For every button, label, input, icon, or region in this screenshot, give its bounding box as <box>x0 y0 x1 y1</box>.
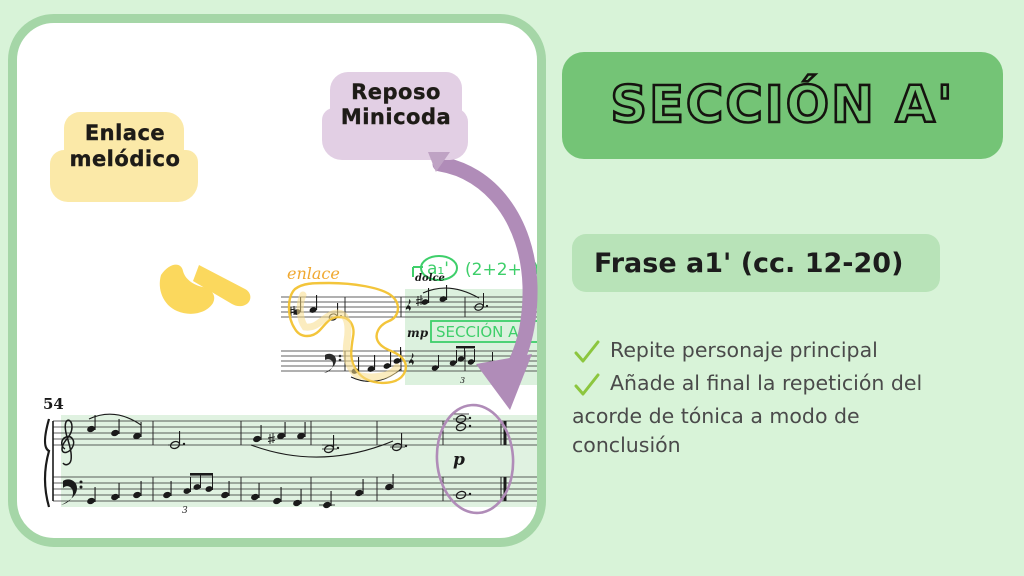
bullet-continuation-line: acorde de tónica a modo de <box>572 402 992 431</box>
bullet-text: Repite personaje principal <box>610 336 878 365</box>
callout-enlace-melodico: Enlace melódico <box>50 112 200 171</box>
dynamic-mp: mp <box>407 326 429 340</box>
callout-line-2: Minicoda <box>322 105 470 130</box>
measure-number: 54 <box>43 395 64 413</box>
list-item: Repite personaje principal <box>572 336 992 368</box>
list-item: Añade al final la repetición del <box>572 369 992 401</box>
phrase-label-pill: Frase a1' (cc. 12-20) <box>572 234 940 292</box>
callout-line-1: Enlace <box>50 112 200 146</box>
section-title-badge: SECCIÓN A' <box>562 52 1003 159</box>
phrase-label-text: Frase a1' (cc. 12-20) <box>594 248 903 279</box>
pointing-hand-icon <box>153 231 263 336</box>
bullet-text: Añade al final la repetición del <box>610 369 922 398</box>
page-title: SECCIÓN A' <box>610 76 954 135</box>
check-icon <box>572 371 602 401</box>
slide-root: 3 a₁' (2+2+4) dolce mp SECCIÓN A' enlace <box>0 0 1024 576</box>
bullet-list: Repite personaje principal Añade al fina… <box>572 336 992 459</box>
curved-arrow-icon <box>432 158 562 433</box>
callout-line-1: Reposo <box>322 72 470 105</box>
tuplet-3-bottom: 3 <box>182 506 188 516</box>
callout-reposo-minicoda: Reposo Minicoda <box>322 72 470 129</box>
enlace-ink-label: enlace <box>287 264 340 283</box>
check-icon <box>572 338 602 368</box>
bullet-continuation-line: conclusión <box>572 431 992 460</box>
callout-line-2: melódico <box>50 146 200 172</box>
dynamic-p: p <box>453 450 465 470</box>
